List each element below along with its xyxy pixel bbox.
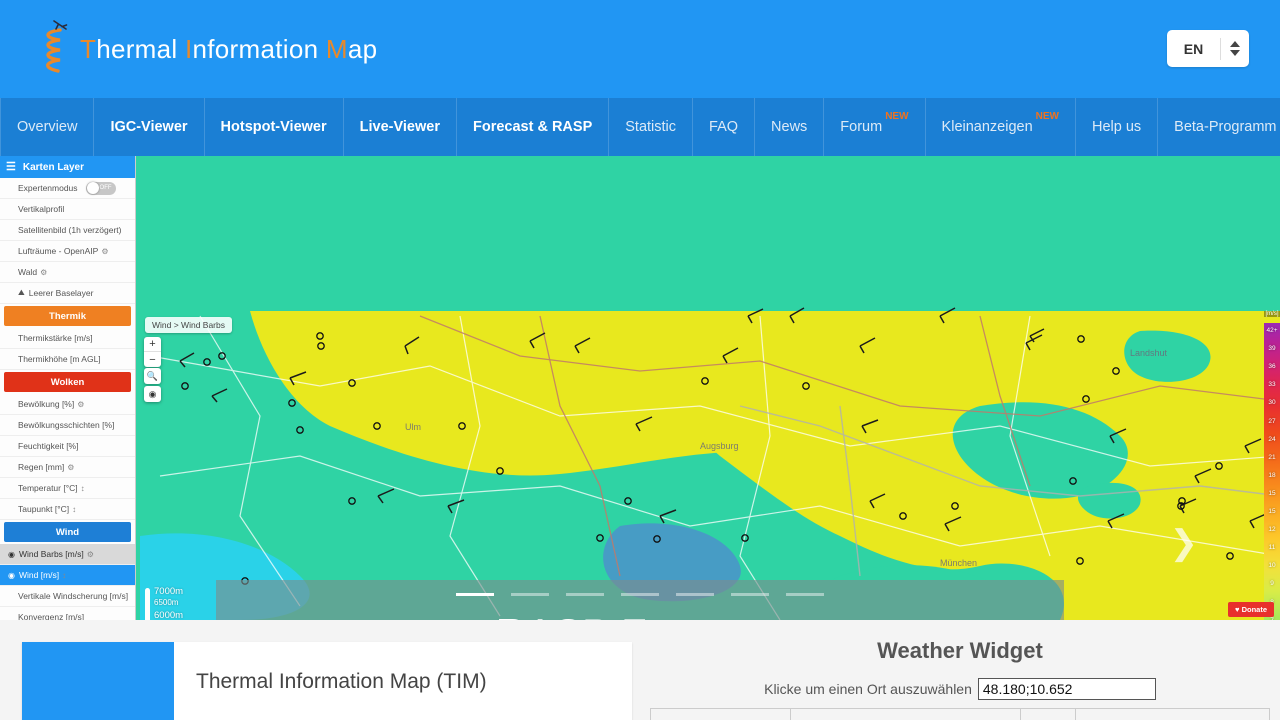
layer-section-wind[interactable]: Wind [4, 522, 131, 542]
layer-row-label: Wind Barbs [m/s] [19, 549, 84, 559]
legend-tick-label: 10 [1264, 562, 1280, 569]
layer-row[interactable]: Bewölkung [%]⚙ [0, 394, 135, 415]
legend-tick-label: 12 [1264, 526, 1280, 533]
nav-item-forecast-rasp[interactable]: Forecast & RASP [457, 98, 609, 156]
new-badge: NEW [1036, 111, 1059, 122]
layer-row-label: Lufträume - OpenAIP [18, 246, 98, 256]
weather-widget-location-input[interactable] [978, 678, 1156, 700]
layer-row[interactable]: ◉Wind [m/s]↕ [0, 565, 135, 586]
svg-text:Augsburg: Augsburg [700, 441, 739, 451]
layer-row[interactable]: Thermikhöhe [m AGL] [0, 349, 135, 370]
nav-item-igc-viewer[interactable]: IGC-Viewer [94, 98, 204, 156]
main-navigation: OverviewIGC-ViewerHotspot-ViewerLive-Vie… [0, 98, 1280, 156]
layer-row[interactable]: Vertikale Windscherung [m/s] [0, 586, 135, 607]
legend-tick-label: 18 [1264, 472, 1280, 479]
nav-item-label: News [771, 119, 807, 135]
nav-item-label: Forecast & RASP [473, 119, 592, 135]
content-section: Thermal Information Map (TIM) Weather Wi… [0, 620, 1280, 718]
nav-item-forum[interactable]: ForumNEW [824, 98, 925, 156]
weather-widget-location-row: Klicke um einen Ort auszuwählen [640, 678, 1280, 700]
layer-options-icon[interactable]: ⚙ [77, 400, 84, 409]
map-donate-label: Donate [1242, 605, 1267, 614]
layer-row[interactable]: Feuchtigkeit [%] [0, 436, 135, 457]
carousel-indicator[interactable] [456, 593, 494, 596]
carousel-title: RASP Forecast [496, 610, 785, 620]
table-cell [791, 709, 1021, 720]
info-card[interactable]: Thermal Information Map (TIM) [22, 642, 632, 720]
language-selector[interactable]: EN [1167, 30, 1249, 67]
layer-row-label: Satellitenbild (1h verzögert) [18, 225, 121, 235]
baselayer-icon: ⛰ [18, 288, 25, 298]
layer-row-label: Temperatur [°C] [18, 483, 78, 493]
layer-row-label: Leerer Baselayer [29, 288, 94, 298]
nav-item-label: Forum [840, 119, 882, 135]
nav-item-label: Beta-Programm [1174, 119, 1276, 135]
layer-panel[interactable]: ☰ Karten Layer ExpertenmodusOFFVertikalp… [0, 156, 136, 620]
layer-row[interactable]: Thermikstärke [m/s] [0, 328, 135, 349]
new-badge: NEW [885, 111, 908, 122]
nav-item-live-viewer[interactable]: Live-Viewer [344, 98, 457, 156]
altitude-track[interactable] [145, 588, 150, 620]
nav-item-label: Live-Viewer [360, 119, 440, 135]
legend-tick-label: 15 [1264, 508, 1280, 515]
weather-widget-label: Klicke um einen Ort auszuwählen [764, 681, 972, 697]
carousel-indicator[interactable] [731, 593, 769, 596]
heart-icon: ♥ [1235, 605, 1239, 614]
nav-item-beta-programm[interactable]: Beta-Programm [1158, 98, 1280, 156]
nav-item-label: Statistic [625, 119, 676, 135]
layer-row[interactable]: Taupunkt [°C]↕ [0, 499, 135, 520]
nav-item-label: IGC-Viewer [110, 119, 187, 135]
layer-row-label: Bewölkung [%] [18, 399, 74, 409]
layer-row-label: Bewölkungsschichten [%] [18, 420, 114, 430]
hamburger-icon[interactable]: ☰ [6, 162, 16, 173]
layer-row-label: Vertikalprofil [18, 204, 64, 214]
layer-options-icon[interactable]: ⚙ [40, 268, 47, 277]
layer-row-label: Regen [mm] [18, 462, 64, 472]
table-cell [1021, 709, 1076, 720]
layer-options-icon[interactable]: ⚙ [87, 550, 94, 559]
legend-tick-label: 33 [1264, 381, 1280, 388]
info-card-body: Thermal Information Map (TIM) [174, 642, 632, 720]
layer-section-thermik[interactable]: Thermik [4, 306, 131, 326]
svg-text:Ulm: Ulm [405, 422, 421, 432]
weather-widget-table [650, 708, 1270, 720]
carousel-indicator[interactable] [786, 593, 824, 596]
layer-row[interactable]: Lufträume - OpenAIP⚙ [0, 241, 135, 262]
visibility-eye-icon[interactable]: ◉ [8, 550, 15, 559]
nav-item-faq[interactable]: FAQ [693, 98, 755, 156]
layer-row-label: Wald [18, 267, 37, 277]
legend-tick-label: 11 [1264, 544, 1280, 551]
carousel-indicator[interactable] [676, 593, 714, 596]
logo-text: Thermal Information Map [80, 34, 377, 65]
expert-mode-label: Expertenmodus [18, 183, 78, 193]
layer-row-label: Vertikale Windscherung [m/s] [18, 591, 128, 601]
legend-unit: [m/s] [1264, 311, 1280, 317]
logo[interactable]: Thermal Information Map [34, 0, 377, 98]
table-row [651, 709, 1270, 720]
svg-text:München: München [940, 558, 977, 568]
table-cell [1076, 709, 1270, 720]
layer-options-icon[interactable]: ↕ [81, 484, 85, 493]
locate-icon[interactable]: ◉ [144, 386, 161, 402]
legend-tick-label: 7 [1264, 617, 1280, 620]
layer-row[interactable]: Temperatur [°C]↕ [0, 478, 135, 499]
layer-row-label: Thermikstärke [m/s] [18, 333, 93, 343]
altitude-label[interactable]: 6500m [154, 598, 178, 607]
nav-item-label: Hotspot-Viewer [221, 119, 327, 135]
layer-row[interactable]: Regen [mm]⚙ [0, 457, 135, 478]
language-value: EN [1167, 41, 1220, 57]
visibility-eye-icon[interactable]: ◉ [8, 571, 15, 580]
wind-map[interactable]: Ulm Augsburg München Landshut Salzburg [0, 156, 1280, 620]
zoom-in-button[interactable]: + [144, 337, 161, 352]
layer-row[interactable]: Satellitenbild (1h verzögert) [0, 220, 135, 241]
altitude-label[interactable]: 6000m [154, 610, 183, 620]
site-header: Thermal Information Map EN [0, 0, 1280, 98]
layer-options-icon[interactable]: ↕ [72, 505, 76, 514]
nav-item-label: FAQ [709, 119, 738, 135]
legend-tick-label: 39 [1264, 345, 1280, 352]
layer-options-icon[interactable]: ⚙ [67, 463, 74, 472]
layer-row[interactable]: Bewölkungsschichten [%] [0, 415, 135, 436]
nav-item-kleinanzeigen[interactable]: KleinanzeigenNEW [926, 98, 1076, 156]
info-card-thumbnail [22, 642, 174, 720]
layer-row[interactable]: ◉Wind Barbs [m/s]⚙ [0, 544, 135, 565]
layer-row[interactable]: Vertikalprofil [0, 199, 135, 220]
nav-item-overview[interactable]: Overview [0, 98, 94, 156]
table-cell [651, 709, 791, 720]
nav-item-label: Overview [17, 119, 77, 135]
zoom-out-button[interactable]: − [144, 352, 161, 367]
legend-tick-label: 15 [1264, 490, 1280, 497]
carousel-indicator[interactable] [566, 593, 604, 596]
layer-section-wolken[interactable]: Wolken [4, 372, 131, 392]
map-breadcrumb: Wind > Wind Barbs [145, 317, 232, 333]
nav-item-label: Help us [1092, 119, 1141, 135]
layer-row[interactable]: Wald⚙ [0, 262, 135, 283]
nav-item-label: Kleinanzeigen [942, 119, 1033, 135]
weather-widget: Weather Widget Klicke um einen Ort auszu… [640, 620, 1280, 718]
expert-mode-toggle[interactable]: OFF [86, 182, 116, 195]
map-donate-button[interactable]: ♥ Donate [1228, 602, 1274, 617]
carousel-indicator[interactable] [621, 593, 659, 596]
svg-text:Landshut: Landshut [1130, 348, 1168, 358]
legend-tick-label: 27 [1264, 418, 1280, 425]
legend-tick-label: 21 [1264, 454, 1280, 461]
layer-row[interactable]: Konvergenz [m/s] [0, 607, 135, 620]
thermal-spiral-glider-icon [34, 18, 78, 80]
layer-row-label: Feuchtigkeit [%] [18, 441, 78, 451]
legend-tick-label: 36 [1264, 363, 1280, 370]
weather-widget-title: Weather Widget [640, 638, 1280, 664]
info-card-column: Thermal Information Map (TIM) [0, 620, 640, 718]
nav-item-statistic[interactable]: Statistic [609, 98, 693, 156]
layer-panel-header[interactable]: ☰ Karten Layer [0, 156, 135, 178]
legend-tick-label: 30 [1264, 399, 1280, 406]
toggle-state-label: OFF [100, 185, 112, 191]
legend-tick-label: 9 [1264, 580, 1280, 587]
layer-options-icon[interactable]: ↕ [62, 571, 66, 580]
layer-row-label: Konvergenz [m/s] [18, 612, 84, 620]
carousel-caption: RASP Forecast RASP und WRF basierte Sege… [216, 580, 1064, 620]
layer-row-label: Wind [m/s] [19, 570, 59, 580]
info-card-title: Thermal Information Map (TIM) [196, 670, 487, 694]
expert-mode-row[interactable]: ExpertenmodusOFF [0, 178, 135, 199]
legend-tick-label: 24 [1264, 436, 1280, 443]
sort-updown-icon[interactable] [1221, 41, 1249, 56]
layer-row-label: Thermikhöhe [m AGL] [18, 354, 101, 364]
wind-speed-legend: [m/s] 42+3936333027242118151512111098765… [1264, 311, 1280, 620]
altitude-label[interactable]: 7000m [154, 586, 183, 597]
altitude-slider[interactable]: 7000m6500m6000m5500m5000m4500m4000m3500m… [142, 586, 198, 620]
chevron-right-icon[interactable]: ❯ [1170, 526, 1199, 560]
legend-tick-label: 42+ [1264, 327, 1280, 334]
map-carousel-stage: Ulm Augsburg München Landshut Salzburg ☰… [0, 156, 1280, 620]
layer-row[interactable]: ⛰Leerer Baselayer [0, 283, 135, 304]
layer-panel-title: Karten Layer [23, 162, 84, 173]
nav-item-news[interactable]: News [755, 98, 824, 156]
layer-options-icon[interactable]: ⚙ [101, 247, 108, 256]
nav-item-help-us[interactable]: Help us [1076, 98, 1158, 156]
carousel-indicator[interactable] [511, 593, 549, 596]
search-icon[interactable]: 🔍 [144, 368, 161, 384]
layer-row-label: Taupunkt [°C] [18, 504, 69, 514]
nav-item-hotspot-viewer[interactable]: Hotspot-Viewer [205, 98, 344, 156]
zoom-controls[interactable]: + − [144, 337, 161, 367]
